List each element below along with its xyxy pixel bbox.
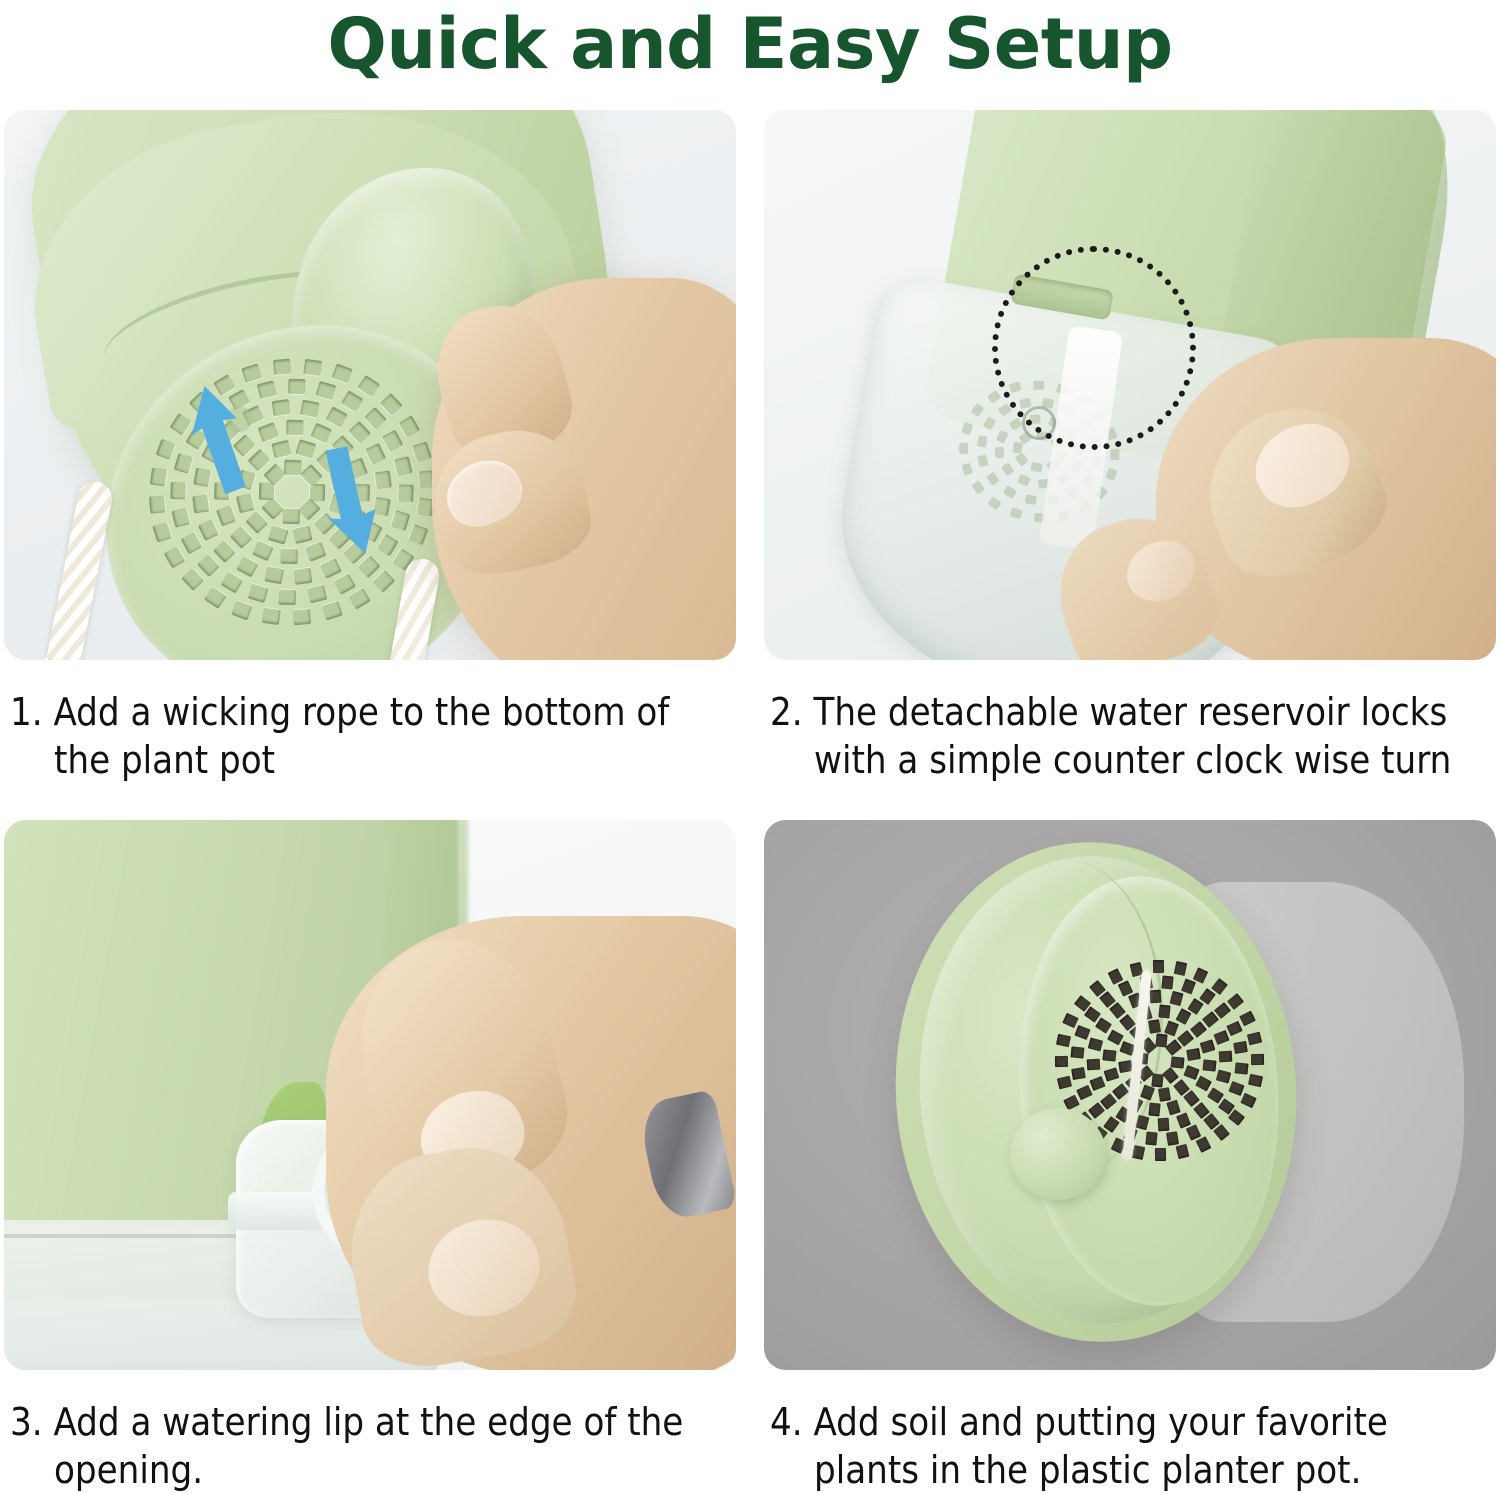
step-4-caption-text: 4. Add soil and putting your favorite pl… [770,1398,1490,1494]
pot-dome-bump [1010,1108,1106,1200]
step-3: 3. Add a watering lip at the edge of the… [4,820,736,1494]
step-2: 2. The detachable water reservoir locks … [764,110,1496,784]
step-4: 4. Add soil and putting your favorite pl… [764,820,1496,1494]
step-4-image [764,820,1496,1370]
page-title: Quick and Easy Setup [0,2,1500,86]
step-3-caption-text: 3. Add a watering lip at the edge of the… [10,1398,730,1494]
step-3-caption: 3. Add a watering lip at the edge of the… [4,1398,730,1494]
step-1: 1. Add a wicking rope to the bottom of t… [4,110,736,784]
step-4-caption: 4. Add soil and putting your favorite pl… [764,1398,1490,1494]
step-1-image [4,110,736,660]
step-2-image [764,110,1496,660]
dotted-circle-highlight-icon [992,246,1196,450]
step-2-caption-text: 2. The detachable water reservoir locks … [770,688,1490,784]
step-2-caption: 2. The detachable water reservoir locks … [764,688,1490,784]
step-3-image [4,820,736,1370]
step-1-caption-text: 1. Add a wicking rope to the bottom of t… [10,688,730,784]
step-1-caption: 1. Add a wicking rope to the bottom of t… [4,688,730,784]
